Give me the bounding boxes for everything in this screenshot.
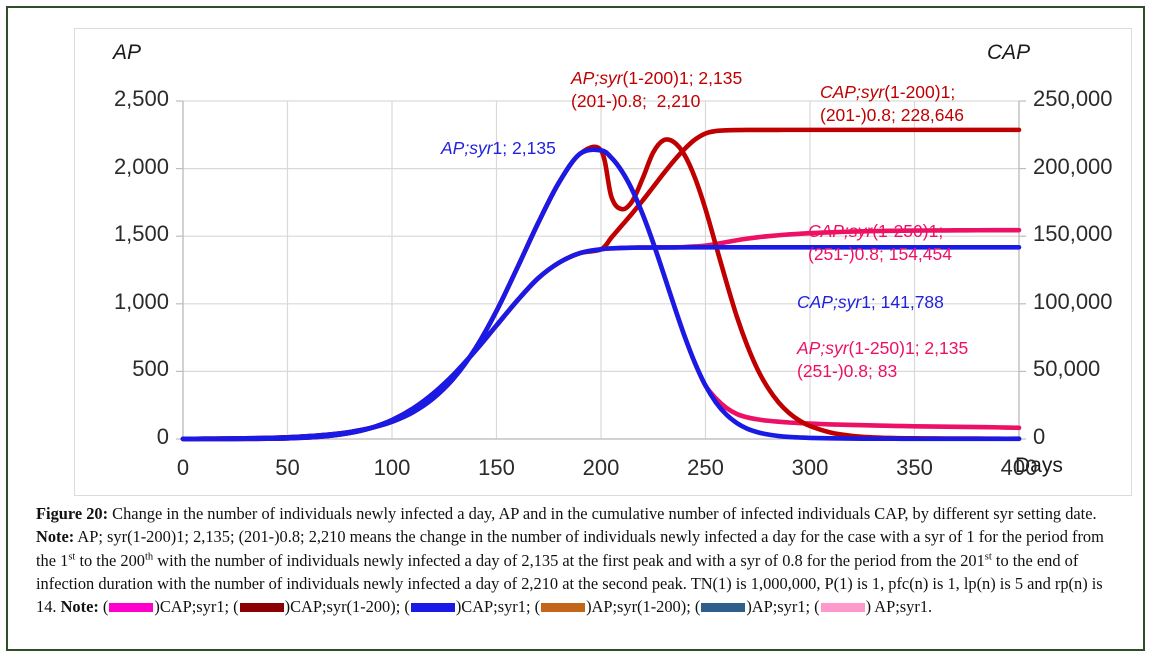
right-axis-tick: 0 <box>1033 424 1045 450</box>
annotation-line: (201-)0.8; 2,210 <box>571 90 742 113</box>
annotation-line: CAP;syr1; 141,788 <box>797 291 944 314</box>
cap-syr1-200-label: CAP;syr(1-200)1;(201-)0.8; 228,646 <box>820 81 964 127</box>
caption-superscript: th <box>145 551 153 562</box>
x-axis-tick: 400 <box>974 455 1064 481</box>
x-axis-tick: 300 <box>765 455 855 481</box>
legend-swatch <box>411 603 455 612</box>
caption-figure-label: Figure 20: <box>36 504 108 523</box>
legend-swatch <box>701 603 745 612</box>
x-axis-tick: 0 <box>138 455 228 481</box>
legend-label: )AP;syr1; ( <box>746 597 819 616</box>
x-axis-tick: 350 <box>870 455 960 481</box>
caption-note-label: Note: <box>36 527 74 546</box>
annotation-line: CAP;syr(1-250)1; <box>808 220 952 243</box>
x-axis-tick: 200 <box>556 455 646 481</box>
legend-label: ) AP;syr1. <box>866 597 932 616</box>
left-axis-tick: 500 <box>75 356 169 382</box>
annotation-line: AP;syr1; 2,135 <box>441 137 556 160</box>
x-axis-tick: 50 <box>243 455 333 481</box>
cap-syr1-label: CAP;syr1; 141,788 <box>797 291 944 314</box>
ap-syr1-250-label: AP;syr(1-250)1; 2,135(251-)0.8; 83 <box>797 337 968 383</box>
right-axis-tick: 250,000 <box>1033 86 1113 112</box>
figure-caption: Figure 20: Change in the number of indiv… <box>36 502 1126 618</box>
right-axis-tick: 150,000 <box>1033 221 1113 247</box>
x-axis-tick: 100 <box>347 455 437 481</box>
left-axis-tick: 2,500 <box>75 86 169 112</box>
annotation-line: AP;syr(1-250)1; 2,135 <box>797 337 968 360</box>
annotation-line: (251-)0.8; 154,454 <box>808 243 952 266</box>
legend-label: )CAP;syr1; ( <box>456 597 540 616</box>
right-axis-tick: 50,000 <box>1033 356 1100 382</box>
legend-swatch <box>821 603 865 612</box>
x-axis-tick: 150 <box>452 455 542 481</box>
ap-syr1-label: AP;syr1; 2,135 <box>441 137 556 160</box>
legend-label: )CAP;syr1; ( <box>154 597 238 616</box>
x-axis-tick: 250 <box>661 455 751 481</box>
annotation-line: CAP;syr(1-200)1; <box>820 81 964 104</box>
left-axis-tick: 2,000 <box>75 154 169 180</box>
chart-card: AP CAP Days 2,5002,0001,5001,0005000250,… <box>74 28 1132 496</box>
annotation-line: (251-)0.8; 83 <box>797 360 968 383</box>
caption-superscript: st <box>985 551 992 562</box>
legend-label: )CAP;syr(1-200); ( <box>285 597 410 616</box>
legend-swatch <box>240 603 284 612</box>
legend-swatch <box>541 603 585 612</box>
legend-swatch <box>109 603 153 612</box>
left-axis-tick: 0 <box>75 424 169 450</box>
ap-syr1-200-label: AP;syr(1-200)1; 2,135(201-)0.8; 2,210 <box>571 67 742 113</box>
caption-superscript: st <box>68 551 75 562</box>
caption-note-label-2: Note: <box>61 597 99 616</box>
legend-label: )AP;syr(1-200); ( <box>586 597 700 616</box>
left-axis-tick: 1,000 <box>75 289 169 315</box>
right-axis-tick: 200,000 <box>1033 154 1113 180</box>
annotation-line: AP;syr(1-200)1; 2,135 <box>571 67 742 90</box>
right-axis-title: CAP <box>987 41 1030 65</box>
cap-syr1-250-label: CAP;syr(1-250)1;(251-)0.8; 154,454 <box>808 220 952 266</box>
figure-frame: AP CAP Days 2,5002,0001,5001,0005000250,… <box>6 6 1145 651</box>
left-axis-tick: 1,500 <box>75 221 169 247</box>
right-axis-tick: 100,000 <box>1033 289 1113 315</box>
left-axis-title: AP <box>113 41 141 65</box>
annotation-line: (201-)0.8; 228,646 <box>820 104 964 127</box>
